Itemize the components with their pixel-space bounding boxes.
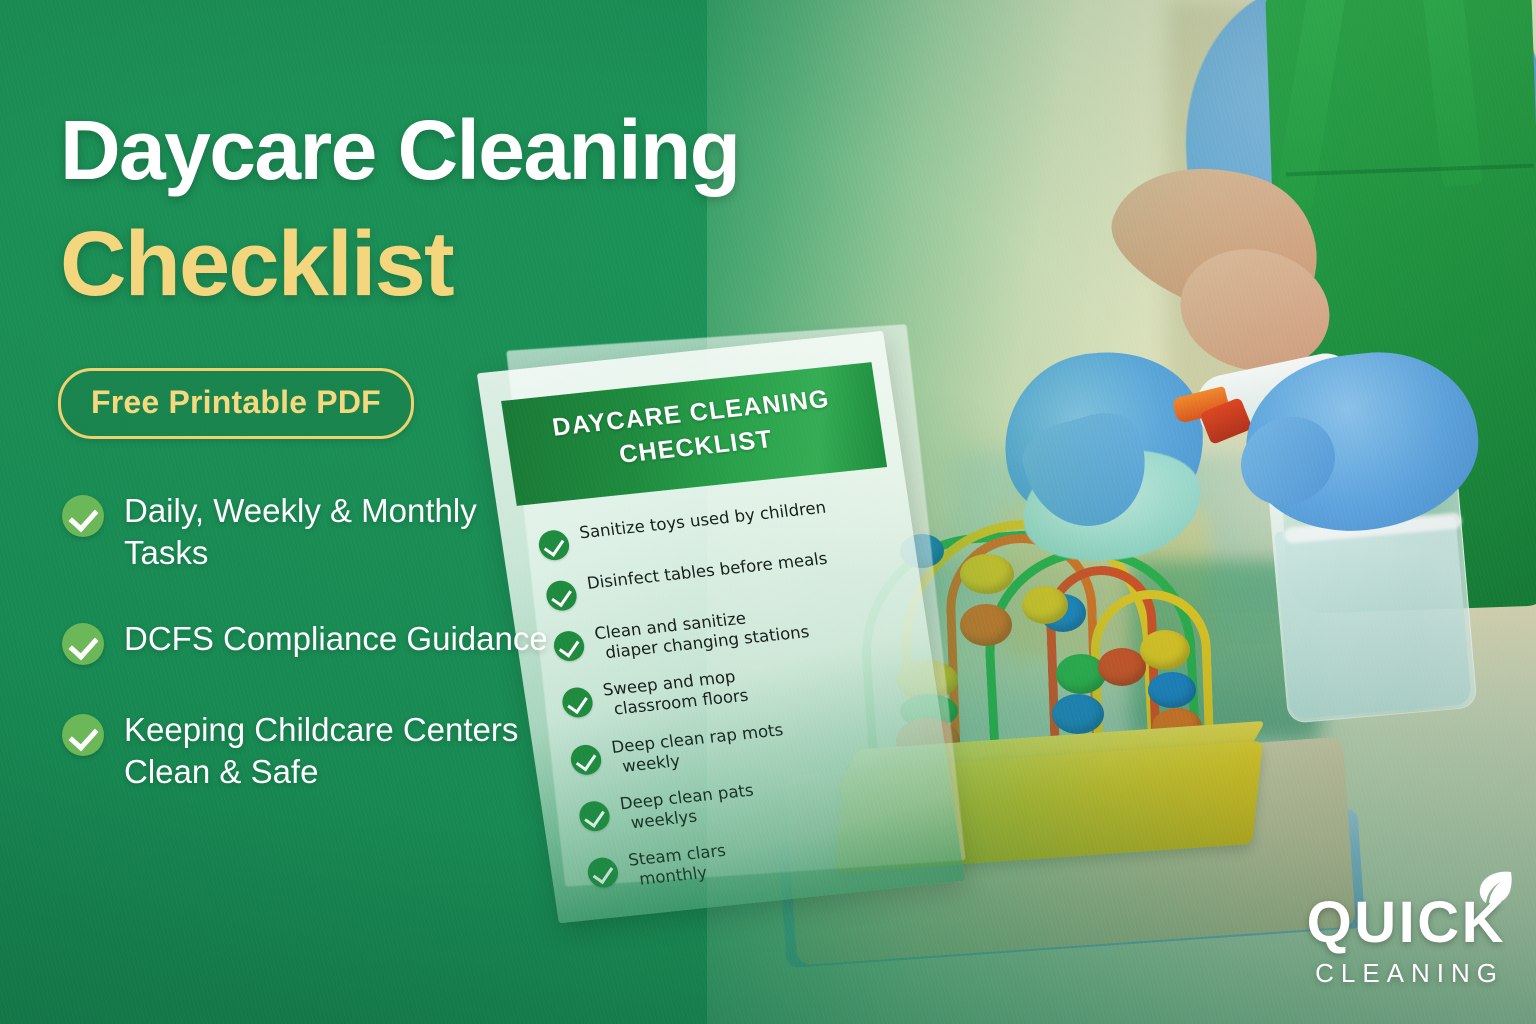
benefit-text: Keeping Childcare Centers Clean & Safe (124, 709, 554, 793)
left-content: Daycare Cleaning Checklist Free Printabl… (0, 0, 600, 1024)
sheet-item-text: Clean and sanitize diaper changing stati… (593, 602, 811, 664)
sheet-item-text: Disinfect tables before meals (586, 549, 829, 594)
logo-tagline: CLEANING (1307, 960, 1504, 986)
poster-canvas: DAYCARE CLEANING CHECKLIST Sanitize toys… (0, 0, 1536, 1024)
headline-line-1: Daycare Cleaning (60, 108, 739, 192)
sheet-item-text: Deep clean pats weeklys (619, 780, 758, 834)
benefit-list: Daily, Weekly & Monthly Tasks DCFS Compl… (62, 490, 582, 837)
leaf-icon (1470, 870, 1514, 910)
sheet-item-text: Deep clean rap mots weekly (610, 720, 787, 778)
benefit-text: DCFS Compliance Guidance (124, 618, 548, 660)
sheet-item-line-1: Disinfect tables before meals (586, 549, 829, 593)
benefit-item: Keeping Childcare Centers Clean & Safe (62, 709, 582, 793)
sheet-item-text: Sweep and mop classroom floors (602, 666, 750, 721)
sheet-item-text: Sanitize toys used by children (578, 498, 827, 544)
brand-logo[interactable]: QUICK CLEANING (1307, 894, 1506, 986)
free-printable-pdf-badge[interactable]: Free Printable PDF (58, 368, 414, 439)
benefit-item: DCFS Compliance Guidance (62, 618, 582, 665)
benefit-item: Daily, Weekly & Monthly Tasks (62, 490, 582, 574)
check-circle-icon (62, 623, 104, 665)
headline-line-2: Checklist (60, 218, 453, 310)
check-circle-icon (62, 495, 104, 537)
benefit-text: Daily, Weekly & Monthly Tasks (124, 490, 554, 574)
sheet-item-text: Steam clars monthly (627, 841, 730, 891)
check-circle-icon (62, 714, 104, 756)
logo-wordmark-row: QUICK (1307, 894, 1506, 952)
sheet-item-line-1: Sanitize toys used by children (578, 498, 827, 543)
